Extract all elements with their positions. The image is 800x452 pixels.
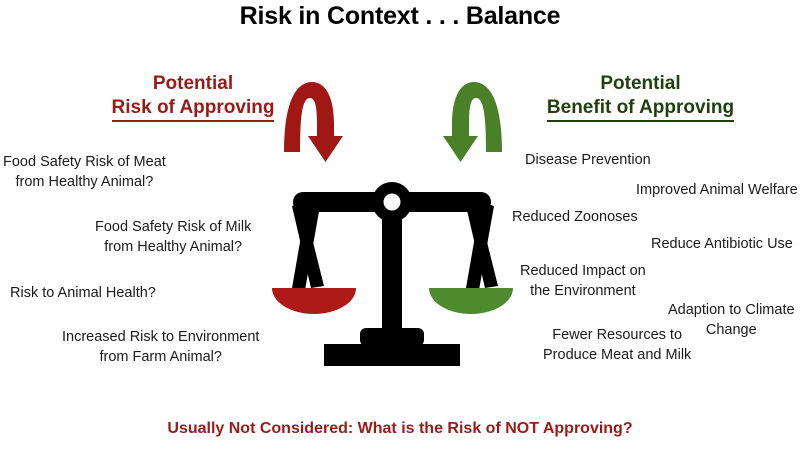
scale-left-hanger [292, 202, 324, 290]
footer-note: Usually Not Considered: What is the Risk… [0, 420, 800, 438]
benefit-item-3-line1: Reduce Antibiotic Use [651, 234, 793, 254]
scale-right-hanger [466, 202, 498, 290]
benefit-item-0: Disease Prevention [525, 150, 651, 170]
curved-arrow-down-red-icon [282, 78, 344, 169]
risk-item-2: Risk to Animal Health? [10, 283, 156, 303]
page-title: Risk in Context . . . Balance [0, 2, 800, 31]
scale-left-pan-risk [272, 288, 356, 314]
risk-heading-line2: Risk of Approving [112, 96, 275, 122]
benefit-column-heading: Potential Benefit of Approving [528, 72, 753, 122]
benefit-item-2: Reduced Zoonoses [512, 207, 638, 227]
benefit-item-0-line1: Disease Prevention [525, 150, 651, 170]
scale-base-upper [360, 328, 424, 346]
risk-item-1-line2: from Healthy Animal? [95, 237, 251, 257]
scale-pivot-hole [384, 194, 401, 211]
benefit-item-4-line2: the Environment [520, 281, 646, 301]
benefit-item-3: Reduce Antibiotic Use [651, 234, 793, 254]
benefit-item-4-line1: Reduced Impact on [520, 261, 646, 281]
risk-heading-line1: Potential [153, 73, 233, 94]
risk-item-1: Food Safety Risk of Milk from Healthy An… [95, 217, 251, 257]
risk-item-3-line1: Increased Risk to Environment [62, 327, 259, 347]
benefit-item-2-line1: Reduced Zoonoses [512, 207, 638, 227]
risk-item-3-line2: from Farm Animal? [62, 347, 259, 367]
slide-canvas: Risk in Context . . . Balance Potential … [0, 0, 800, 452]
benefit-heading-line1: Potential [600, 73, 680, 94]
risk-item-0-line2: from Healthy Animal? [3, 172, 166, 192]
risk-item-1-line1: Food Safety Risk of Milk [95, 217, 251, 237]
benefit-item-5-line1: Adaption to Climate [668, 300, 795, 320]
benefit-item-6-line2: Produce Meat and Milk [543, 345, 691, 365]
benefit-item-6: Fewer Resources to Produce Meat and Milk [543, 325, 691, 365]
scale-right-pan-benefit [429, 288, 513, 314]
curved-arrow-down-green-icon [442, 78, 504, 169]
balance-scales-icon [262, 178, 522, 379]
benefit-item-1: Improved Animal Welfare [636, 180, 798, 200]
risk-item-3: Increased Risk to Environment from Farm … [62, 327, 259, 367]
risk-column-heading: Potential Risk of Approving [98, 72, 288, 122]
risk-item-0: Food Safety Risk of Meat from Healthy An… [3, 152, 166, 192]
risk-item-0-line1: Food Safety Risk of Meat [3, 152, 166, 172]
benefit-item-1-line1: Improved Animal Welfare [636, 180, 798, 200]
risk-item-2-line1: Risk to Animal Health? [10, 283, 156, 303]
benefit-heading-line2: Benefit of Approving [547, 96, 734, 122]
scale-base-plate [324, 344, 460, 366]
benefit-item-4: Reduced Impact on the Environment [520, 261, 646, 301]
benefit-item-6-line1: Fewer Resources to [543, 325, 691, 345]
